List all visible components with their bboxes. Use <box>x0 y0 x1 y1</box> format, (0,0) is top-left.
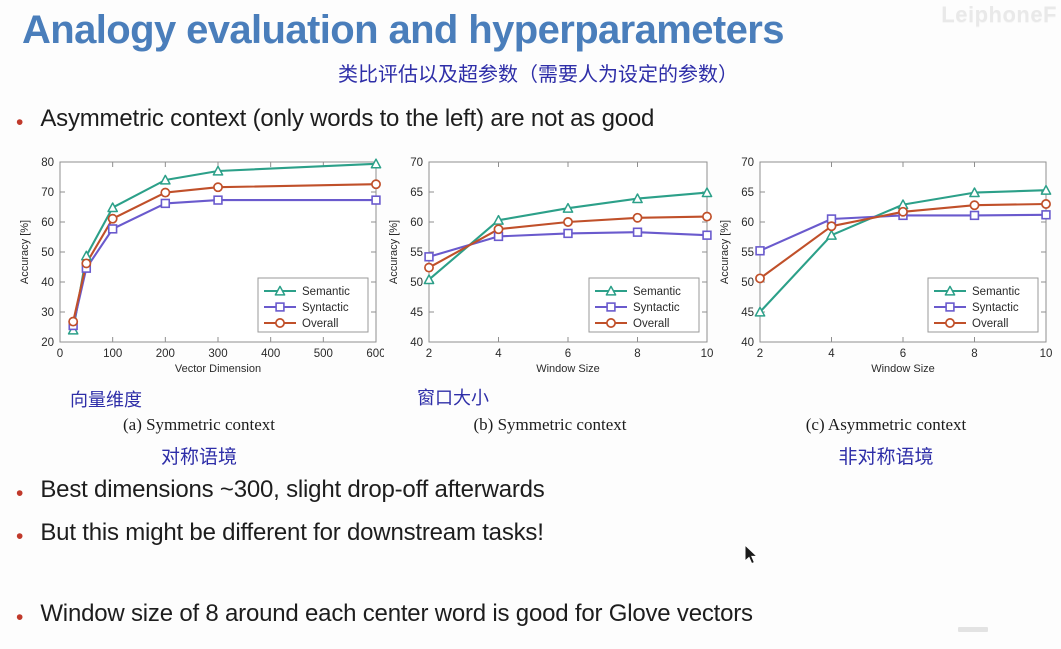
svg-text:40: 40 <box>41 277 54 289</box>
svg-text:Window Size: Window Size <box>871 363 935 375</box>
mouse-cursor-icon <box>744 544 760 566</box>
figure-caption-chinese-a: 对称语境 <box>14 442 384 469</box>
bullet-text: Best dimensions ~300, slight drop-off af… <box>40 476 544 504</box>
figures-row: 010020030040050060020304050607080Vector … <box>0 152 1061 472</box>
bullet-item: • Best dimensions ~300, slight drop-off … <box>16 476 545 504</box>
svg-text:10: 10 <box>1040 348 1053 360</box>
svg-text:4: 4 <box>495 348 502 360</box>
svg-text:6: 6 <box>900 348 906 360</box>
figure-caption-chinese-c: 非对称语境 <box>716 442 1056 469</box>
svg-text:10: 10 <box>701 348 714 360</box>
svg-text:Semantic: Semantic <box>302 286 350 298</box>
svg-text:60: 60 <box>741 217 754 229</box>
figure-caption-a: (a) Symmetric context <box>14 415 384 435</box>
axis-label-chinese-a: 向量维度 <box>70 386 142 412</box>
figure-b: 24681040455055606570Window SizeAccuracy … <box>385 152 715 384</box>
svg-text:45: 45 <box>741 307 754 319</box>
svg-text:Vector Dimension: Vector Dimension <box>175 363 261 375</box>
svg-text:Syntactic: Syntactic <box>302 302 349 314</box>
plot-b: 24681040455055606570Window SizeAccuracy … <box>385 152 715 384</box>
figure-caption-b: (b) Symmetric context <box>385 415 715 435</box>
bullet-text: But this might be different for downstre… <box>40 519 543 547</box>
svg-text:50: 50 <box>410 277 423 289</box>
svg-text:70: 70 <box>410 157 423 169</box>
svg-text:Overall: Overall <box>633 318 669 330</box>
watermark: LeiphoneF <box>941 2 1057 28</box>
bullet-item: • But this might be different for downst… <box>16 519 544 547</box>
svg-text:Accuracy [%]: Accuracy [%] <box>388 220 400 284</box>
svg-text:50: 50 <box>741 277 754 289</box>
svg-text:20: 20 <box>41 337 54 349</box>
svg-text:400: 400 <box>261 348 280 360</box>
bullet-item: • Window size of 8 around each center wo… <box>16 600 753 628</box>
svg-text:Semantic: Semantic <box>972 286 1020 298</box>
bullet-item: • Asymmetric context (only words to the … <box>16 105 654 133</box>
svg-text:300: 300 <box>208 348 227 360</box>
bullet-dot-icon: • <box>16 483 23 504</box>
svg-text:500: 500 <box>314 348 333 360</box>
chart-c-svg: 24681040455055606570Window SizeAccuracy … <box>716 152 1056 384</box>
bullet-dot-icon: • <box>16 112 23 133</box>
svg-text:65: 65 <box>741 187 754 199</box>
svg-text:50: 50 <box>41 247 54 259</box>
svg-text:0: 0 <box>57 348 63 360</box>
svg-text:30: 30 <box>41 307 54 319</box>
plot-a: 010020030040050060020304050607080Vector … <box>14 152 384 384</box>
bullet-text: Asymmetric context (only words to the le… <box>40 105 654 133</box>
chart-b-svg: 24681040455055606570Window SizeAccuracy … <box>385 152 715 384</box>
bullet-dot-icon: • <box>16 607 23 628</box>
svg-text:4: 4 <box>828 348 835 360</box>
svg-text:Window Size: Window Size <box>536 363 600 375</box>
svg-text:55: 55 <box>741 247 754 259</box>
svg-text:40: 40 <box>410 337 423 349</box>
chart-a-svg: 010020030040050060020304050607080Vector … <box>14 152 384 384</box>
svg-text:2: 2 <box>426 348 432 360</box>
svg-text:8: 8 <box>634 348 640 360</box>
svg-text:45: 45 <box>410 307 423 319</box>
figure-c: 24681040455055606570Window SizeAccuracy … <box>716 152 1056 384</box>
svg-text:80: 80 <box>41 157 54 169</box>
bullet-dot-icon: • <box>16 526 23 547</box>
svg-text:100: 100 <box>103 348 122 360</box>
svg-text:Syntactic: Syntactic <box>972 302 1019 314</box>
svg-text:Syntactic: Syntactic <box>633 302 680 314</box>
corner-artifact <box>958 627 988 632</box>
svg-text:200: 200 <box>156 348 175 360</box>
svg-text:6: 6 <box>565 348 571 360</box>
svg-text:60: 60 <box>410 217 423 229</box>
svg-text:Overall: Overall <box>972 318 1008 330</box>
svg-text:Semantic: Semantic <box>633 286 681 298</box>
svg-text:2: 2 <box>757 348 763 360</box>
figure-caption-c: (c) Asymmetric context <box>716 415 1056 435</box>
subtitle-chinese: 类比评估以及超参数（需要人为设定的参数） <box>338 58 738 87</box>
svg-text:70: 70 <box>741 157 754 169</box>
bullet-text: Window size of 8 around each center word… <box>40 600 753 628</box>
page-title: Analogy evaluation and hyperparameters <box>22 8 784 53</box>
axis-label-chinese-b: 窗口大小 <box>417 384 489 410</box>
svg-text:Accuracy [%]: Accuracy [%] <box>719 220 731 284</box>
svg-text:70: 70 <box>41 187 54 199</box>
svg-text:55: 55 <box>410 247 423 259</box>
slide-canvas: LeiphoneF Analogy evaluation and hyperpa… <box>0 0 1061 649</box>
svg-text:600: 600 <box>366 348 384 360</box>
svg-text:60: 60 <box>41 217 54 229</box>
svg-text:Overall: Overall <box>302 318 338 330</box>
figure-a: 010020030040050060020304050607080Vector … <box>14 152 384 384</box>
svg-text:Accuracy [%]: Accuracy [%] <box>19 220 31 284</box>
svg-text:65: 65 <box>410 187 423 199</box>
svg-text:8: 8 <box>971 348 977 360</box>
plot-c: 24681040455055606570Window SizeAccuracy … <box>716 152 1056 384</box>
svg-text:40: 40 <box>741 337 754 349</box>
